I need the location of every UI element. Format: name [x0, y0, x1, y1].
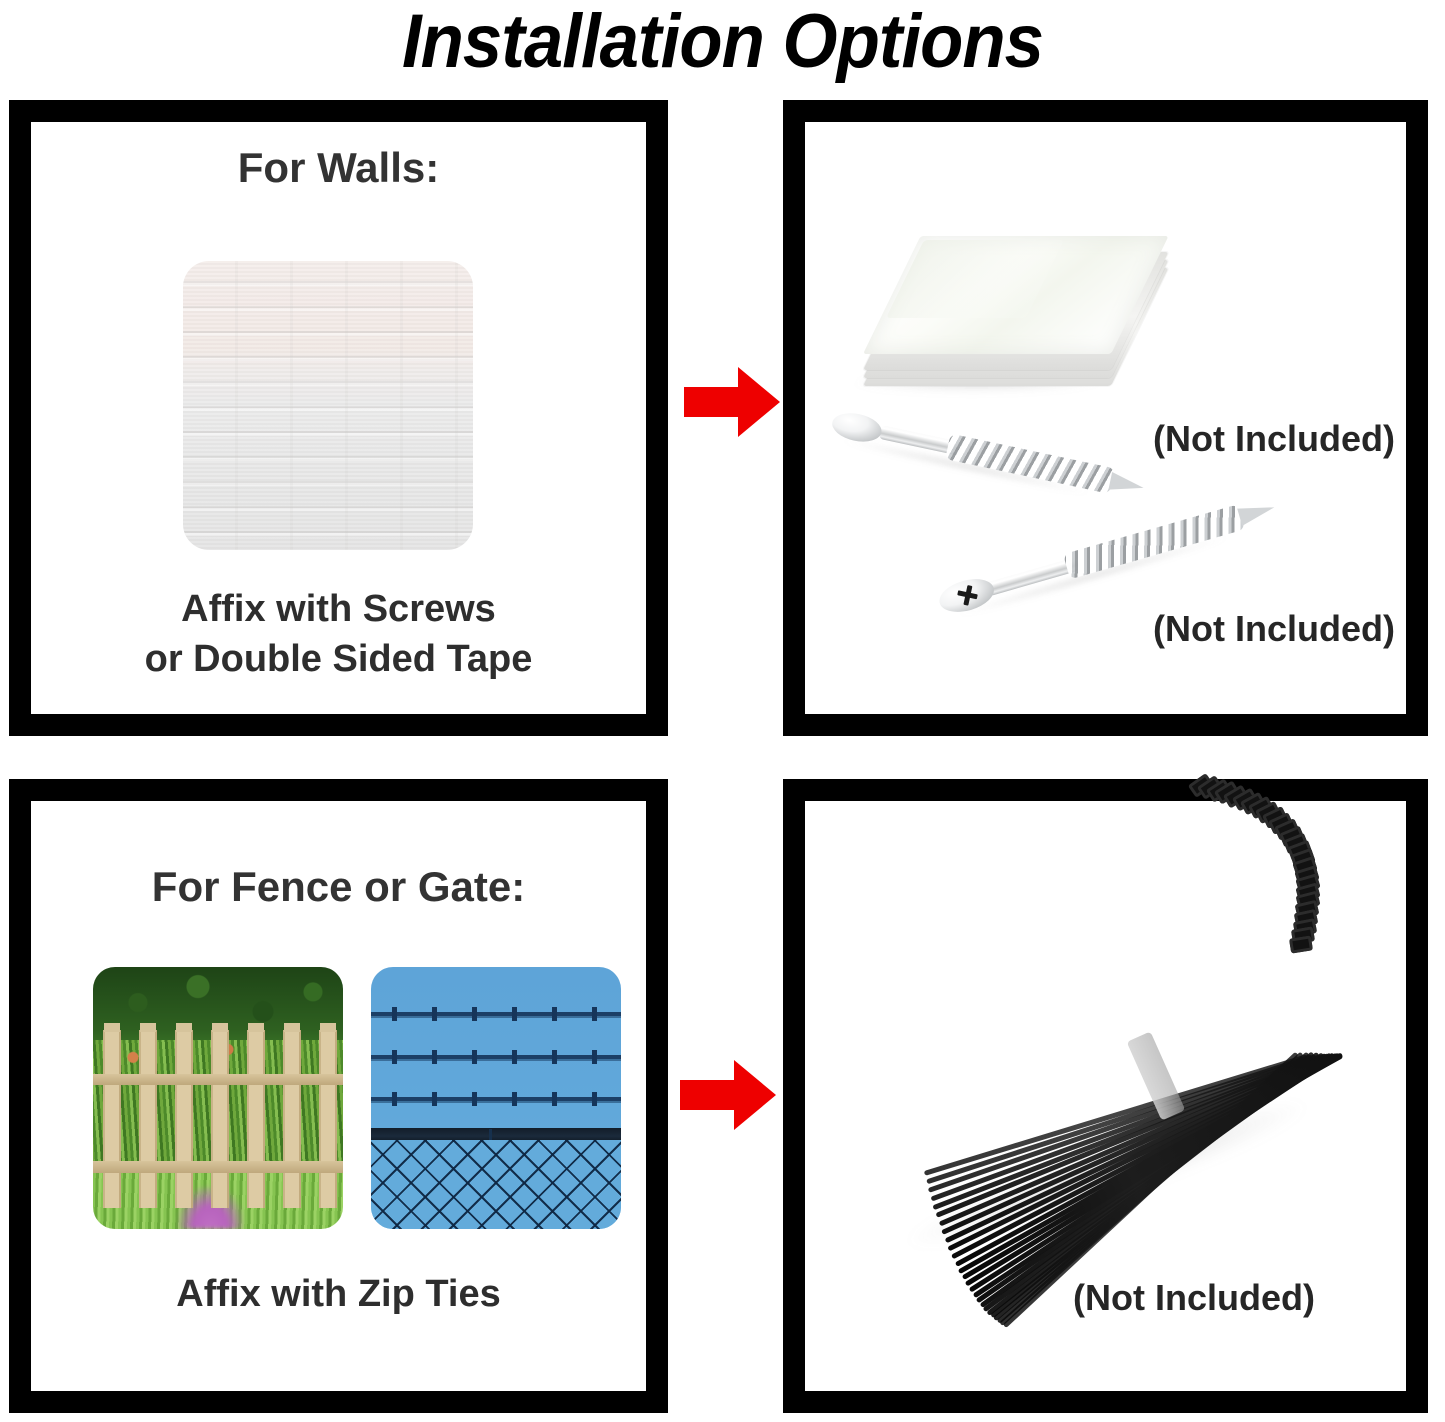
barbed-wire-strand-2: [371, 1055, 621, 1059]
walls-caption-line2: or Double Sided Tape: [31, 634, 646, 684]
panel-for-fence-or-gate: For Fence or Gate: Affix with Zip Ties: [9, 779, 668, 1413]
zipties-not-included-label: (Not Included): [1073, 1277, 1315, 1319]
fence-top-rail: [93, 1074, 343, 1084]
wooden-picket-fence-image: [93, 967, 343, 1229]
brick-texture-grain: [183, 261, 473, 550]
tape-not-included-label: (Not Included): [1153, 418, 1395, 460]
fence-caption: Affix with Zip Ties: [31, 1269, 646, 1319]
chain-link-barbed-wire-fence-image: [371, 967, 621, 1229]
white-brick-wall-image: [183, 261, 473, 550]
screw-top-image: [829, 407, 1148, 503]
black-zip-ties-bundle-image: [857, 901, 1397, 1291]
phillips-cross-icon: [957, 590, 978, 599]
chain-link-mesh: [371, 1140, 621, 1229]
page-title: Installation Options: [51, 0, 1395, 88]
panel-for-walls: For Walls: Affix with Screws or Double S…: [9, 100, 668, 736]
screw-bottom-image: [936, 492, 1281, 617]
barbed-wire-strand-3: [371, 1097, 621, 1101]
fence-picket-caps: [93, 1023, 343, 1032]
walls-caption-line1: Affix with Screws: [31, 584, 646, 634]
screw-top-tip: [1108, 472, 1145, 497]
for-fence-heading: For Fence or Gate:: [31, 863, 646, 911]
double-sided-tape-stack-image: [853, 230, 1123, 400]
screw-bottom-tip: [1237, 499, 1277, 526]
red-right-arrow-icon-top: [684, 365, 780, 439]
panel-wall-hardware: (Not Included) (Not Included): [783, 100, 1428, 736]
panel-zip-ties: (Not Included): [783, 779, 1428, 1413]
for-walls-heading: For Walls:: [31, 144, 646, 192]
zip-tie-head: [1288, 935, 1312, 953]
screws-not-included-label: (Not Included): [1153, 608, 1395, 650]
red-right-arrow-icon-bottom: [680, 1058, 776, 1132]
barbed-wire-strand-1: [371, 1012, 621, 1016]
fence-pickets: [93, 1030, 343, 1208]
fence-bottom-rail: [93, 1161, 343, 1173]
